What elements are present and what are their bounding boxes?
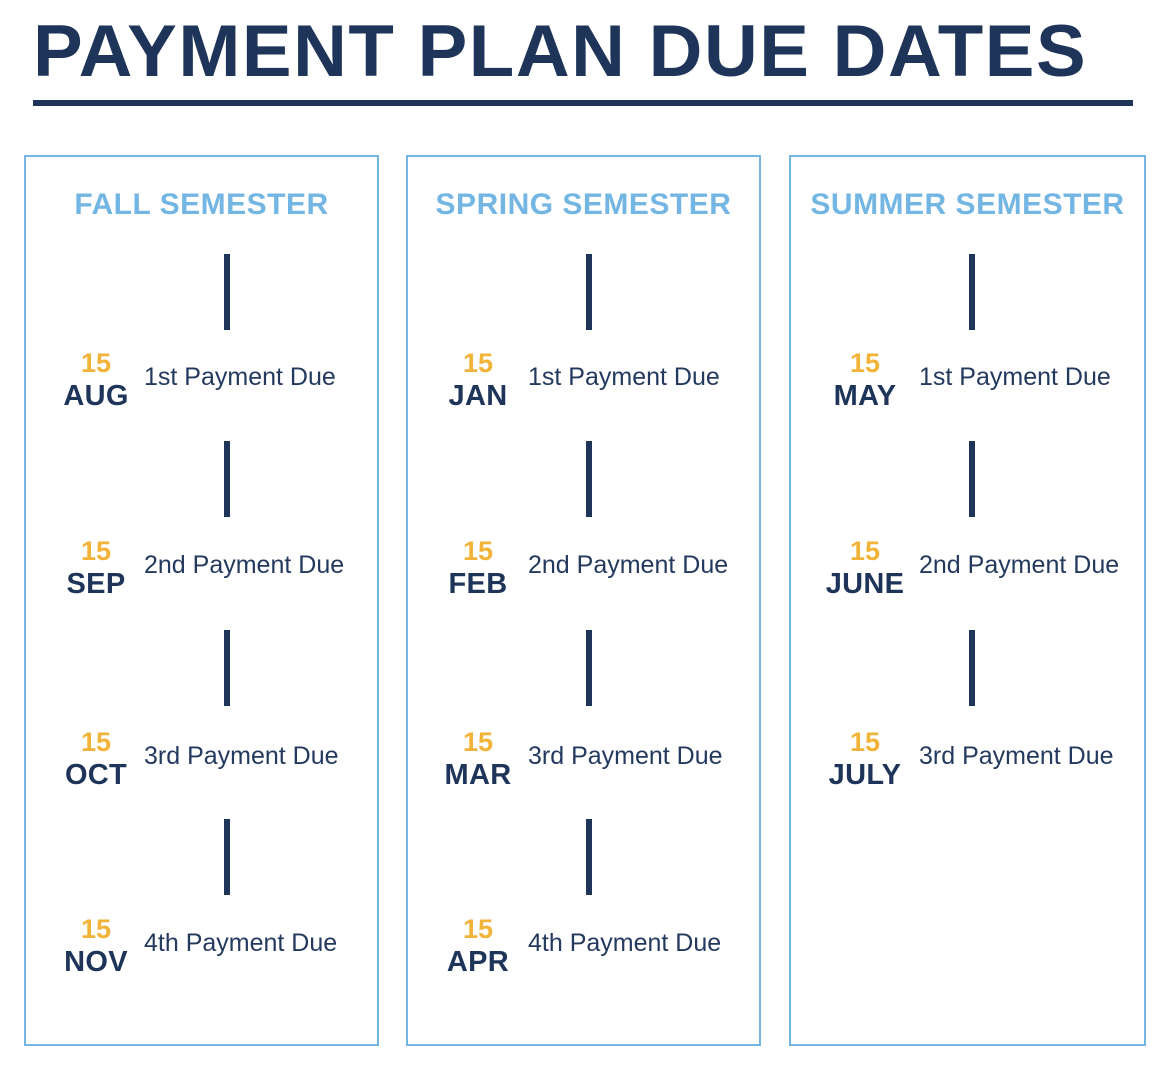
due-month: SEP: [50, 566, 142, 602]
semester-panels: FALL SEMESTER 15 AUG 1st Payment Due 15 …: [0, 155, 1171, 1047]
due-date: 15 APR: [432, 914, 524, 980]
payment-label: 3rd Payment Due: [144, 741, 339, 771]
timeline-tick: [224, 819, 230, 895]
payment-row: 15 JUNE 2nd Payment Due: [791, 536, 1144, 626]
payment-label: 1st Payment Due: [919, 362, 1111, 392]
timeline-tick: [224, 254, 230, 330]
due-day: 15: [50, 727, 142, 757]
timeline-fall: 15 AUG 1st Payment Due 15 SEP 2nd Paymen…: [26, 157, 377, 1044]
due-day: 15: [432, 348, 524, 378]
due-day: 15: [432, 536, 524, 566]
timeline-tick: [586, 254, 592, 330]
timeline-spring: 15 JAN 1st Payment Due 15 FEB 2nd Paymen…: [408, 157, 759, 1044]
due-date: 15 AUG: [50, 348, 142, 414]
payment-row: 15 FEB 2nd Payment Due: [408, 536, 759, 626]
due-day: 15: [432, 914, 524, 944]
due-day: 15: [813, 727, 917, 757]
due-month: JULY: [813, 757, 917, 793]
due-month: FEB: [432, 566, 524, 602]
payment-label: 2nd Payment Due: [144, 550, 344, 580]
payment-row: 15 APR 4th Payment Due: [408, 914, 759, 1004]
semester-panel-summer: SUMMER SEMESTER 15 MAY 1st Payment Due 1…: [789, 155, 1146, 1046]
due-month: MAR: [432, 757, 524, 793]
due-day: 15: [813, 536, 917, 566]
payment-row: 15 SEP 2nd Payment Due: [26, 536, 377, 626]
due-day: 15: [432, 727, 524, 757]
timeline-tick: [224, 441, 230, 517]
due-month: AUG: [50, 378, 142, 414]
page-title: PAYMENT PLAN DUE DATES: [33, 13, 1160, 91]
payment-label: 3rd Payment Due: [528, 741, 723, 771]
payment-label: 3rd Payment Due: [919, 741, 1114, 771]
payment-label: 4th Payment Due: [528, 928, 721, 958]
due-day: 15: [50, 348, 142, 378]
timeline-tick: [969, 441, 975, 517]
timeline-tick: [969, 254, 975, 330]
due-date: 15 JAN: [432, 348, 524, 414]
due-month: APR: [432, 944, 524, 980]
due-date: 15 MAR: [432, 727, 524, 793]
payment-label: 1st Payment Due: [144, 362, 336, 392]
due-month: NOV: [50, 944, 142, 980]
timeline-summer: 15 MAY 1st Payment Due 15 JUNE 2nd Payme…: [791, 157, 1144, 1044]
due-date: 15 JULY: [813, 727, 917, 793]
due-date: 15 FEB: [432, 536, 524, 602]
due-date: 15 MAY: [813, 348, 917, 414]
payment-row: 15 JAN 1st Payment Due: [408, 348, 759, 438]
due-month: JUNE: [813, 566, 917, 602]
due-day: 15: [813, 348, 917, 378]
title-divider-rule: [33, 100, 1133, 106]
payment-row: 15 AUG 1st Payment Due: [26, 348, 377, 438]
due-day: 15: [50, 914, 142, 944]
due-date: 15 SEP: [50, 536, 142, 602]
timeline-tick: [586, 819, 592, 895]
due-date: 15 OCT: [50, 727, 142, 793]
semester-panel-spring: SPRING SEMESTER 15 JAN 1st Payment Due 1…: [406, 155, 761, 1046]
due-month: MAY: [813, 378, 917, 414]
timeline-tick: [224, 630, 230, 706]
payment-label: 4th Payment Due: [144, 928, 337, 958]
payment-row: 15 NOV 4th Payment Due: [26, 914, 377, 1004]
timeline-tick: [586, 630, 592, 706]
semester-panel-fall: FALL SEMESTER 15 AUG 1st Payment Due 15 …: [24, 155, 379, 1046]
due-date: 15 JUNE: [813, 536, 917, 602]
payment-row: 15 JULY 3rd Payment Due: [791, 727, 1144, 817]
payment-label: 2nd Payment Due: [919, 550, 1119, 580]
due-day: 15: [50, 536, 142, 566]
timeline-tick: [586, 441, 592, 517]
payment-label: 1st Payment Due: [528, 362, 720, 392]
due-month: JAN: [432, 378, 524, 414]
due-month: OCT: [50, 757, 142, 793]
timeline-tick: [969, 630, 975, 706]
payment-label: 2nd Payment Due: [528, 550, 728, 580]
payment-row: 15 MAR 3rd Payment Due: [408, 727, 759, 817]
due-date: 15 NOV: [50, 914, 142, 980]
payment-row: 15 MAY 1st Payment Due: [791, 348, 1144, 438]
payment-row: 15 OCT 3rd Payment Due: [26, 727, 377, 817]
